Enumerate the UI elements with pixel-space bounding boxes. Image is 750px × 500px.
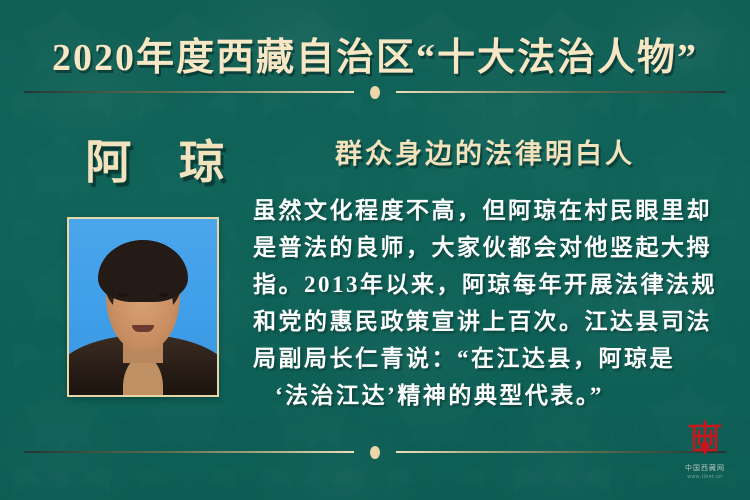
divider-bottom bbox=[24, 445, 726, 459]
body-line: ‘法治江达’精神的典型代表。” bbox=[253, 377, 727, 414]
subtitle: 群众身边的法律明白人 bbox=[250, 132, 720, 171]
body-line: 和党的惠民政策宣讲上百次。江达县司法 bbox=[253, 303, 727, 340]
logo-url: www.tibet.cn bbox=[672, 474, 738, 480]
logo-name: 中国西藏网 bbox=[672, 463, 738, 473]
divider-dot bbox=[370, 446, 380, 459]
photo-eye-left bbox=[117, 293, 128, 297]
page-title: 2020年度西藏自治区“十大法治人物” bbox=[0, 26, 750, 81]
body-line: 是普法的良师，大家伙都会对他竖起大拇 bbox=[253, 229, 727, 266]
photo-eye-right bbox=[158, 293, 169, 297]
divider-top bbox=[24, 85, 726, 99]
photo-mouth bbox=[132, 325, 154, 332]
poster-canvas: 2020年度西藏自治区“十大法治人物” 阿 琼 群众身边的法律明白人 虽然文化程… bbox=[0, 0, 750, 500]
body-line: 局副局长仁青说：“在江达县，阿琼是 bbox=[253, 340, 727, 377]
divider-dot bbox=[370, 86, 380, 99]
divider-bar-left bbox=[24, 91, 354, 93]
divider-bar-right bbox=[396, 91, 726, 93]
person-name: 阿 琼 bbox=[60, 126, 250, 192]
body-line: 虽然文化程度不高，但阿琼在村民眼里却 bbox=[253, 192, 727, 229]
body-text: 虽然文化程度不高，但阿琼在村民眼里却 是普法的良师，大家伙都会对他竖起大拇 指。… bbox=[253, 192, 727, 414]
seal-icon bbox=[685, 420, 725, 456]
site-logo: 中国西藏网 www.tibet.cn bbox=[672, 420, 738, 480]
portrait-photo bbox=[67, 217, 219, 397]
body-line: 指。2013年以来，阿琼每年开展法律法规 bbox=[253, 266, 727, 303]
divider-bar-left bbox=[24, 451, 354, 453]
